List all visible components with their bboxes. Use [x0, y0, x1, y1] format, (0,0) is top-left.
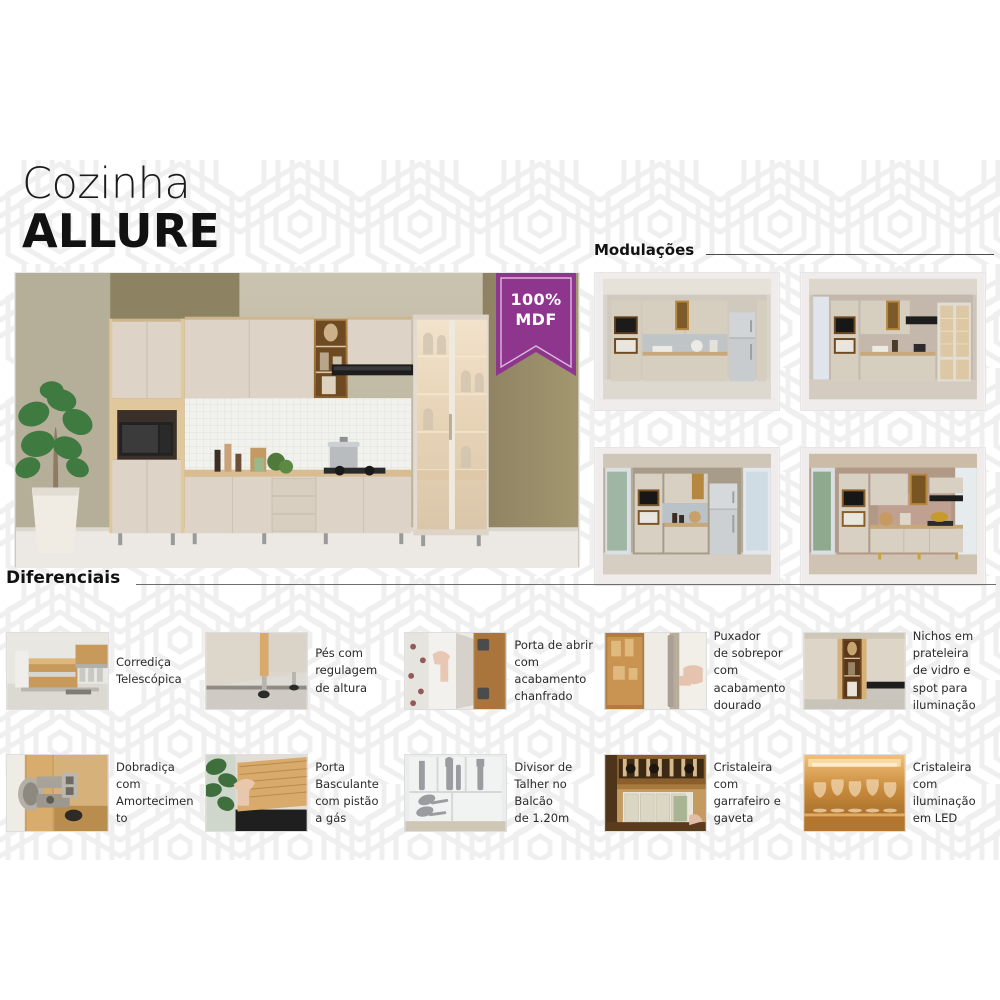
feature-label: Nichos emprateleirade vidro espot parail…: [913, 628, 976, 713]
feature-label: Pés comregulagemde altura: [315, 645, 377, 696]
feature-item[interactable]: Porta de abrircomacabamentochanfrado: [402, 612, 597, 730]
wine-rack-drawer-icon: [604, 754, 707, 832]
drawer-slide-icon: [6, 632, 109, 710]
modulacoes-label: Modulações: [594, 241, 694, 259]
feature-item[interactable]: PortaBasculantecom pistãoa gás: [203, 734, 398, 852]
mdf-badge: 100% MDF: [495, 272, 577, 377]
modulacoes-grid: [594, 272, 986, 586]
feature-label: Puxadorde sobreporcomacabamentodourado: [714, 628, 786, 713]
feature-label: Divisor deTalher noBalcãode 1.20m: [514, 759, 572, 827]
diferenciais-rule: [136, 584, 996, 585]
feature-item[interactable]: Cristaleiracomiluminaçãoem LED: [801, 734, 996, 852]
title-line-allure: ALLURE: [22, 207, 220, 256]
diferenciais-label: Diferenciais: [6, 568, 120, 588]
feature-label: Cristaleiracomgarrafeiro egaveta: [714, 759, 781, 827]
feature-item[interactable]: CorrediçaTelescópica: [4, 612, 199, 730]
feature-item[interactable]: Nichos emprateleirade vidro espot parail…: [801, 612, 996, 730]
feature-label: Cristaleiracomiluminaçãoem LED: [913, 759, 976, 827]
modulacoes-rule: [706, 254, 994, 255]
feature-label: PortaBasculantecom pistãoa gás: [315, 759, 379, 827]
feature-label: Porta de abrircomacabamentochanfrado: [514, 637, 593, 705]
modulacoes-section-header: Modulações: [594, 241, 994, 259]
modulation-card[interactable]: [594, 272, 780, 411]
feature-item[interactable]: Dobradiça comAmortecimento: [4, 734, 199, 852]
title-line-cozinha: Cozinha: [22, 163, 220, 207]
catalog-page: Cozinha ALLURE: [0, 0, 1000, 1000]
glass-niche-icon: [803, 632, 906, 710]
feature-label: CorrediçaTelescópica: [116, 654, 182, 688]
modulation-card[interactable]: [594, 447, 780, 586]
modulation-card[interactable]: [800, 447, 986, 586]
gas-piston-door-icon: [205, 754, 308, 832]
adjustable-feet-icon: [205, 632, 308, 710]
modulation-card[interactable]: [800, 272, 986, 411]
cutlery-divider-icon: [404, 754, 507, 832]
feature-item[interactable]: Pés comregulagemde altura: [203, 612, 398, 730]
feature-item[interactable]: Cristaleiracomgarrafeiro egaveta: [602, 734, 797, 852]
diferenciais-section-header: Diferenciais: [6, 568, 996, 588]
feature-label: Dobradiça comAmortecimento: [116, 759, 197, 827]
golden-handle-icon: [604, 632, 707, 710]
beveled-door-icon: [404, 632, 507, 710]
soft-close-hinge-icon: [6, 754, 109, 832]
feature-item[interactable]: Puxadorde sobreporcomacabamentodourado: [602, 612, 797, 730]
diferenciais-grid: CorrediçaTelescópica Pés comregulage: [4, 612, 996, 852]
page-title: Cozinha ALLURE: [22, 163, 220, 256]
feature-item[interactable]: Divisor deTalher noBalcãode 1.20m: [402, 734, 597, 852]
led-display-cabinet-icon: [803, 754, 906, 832]
